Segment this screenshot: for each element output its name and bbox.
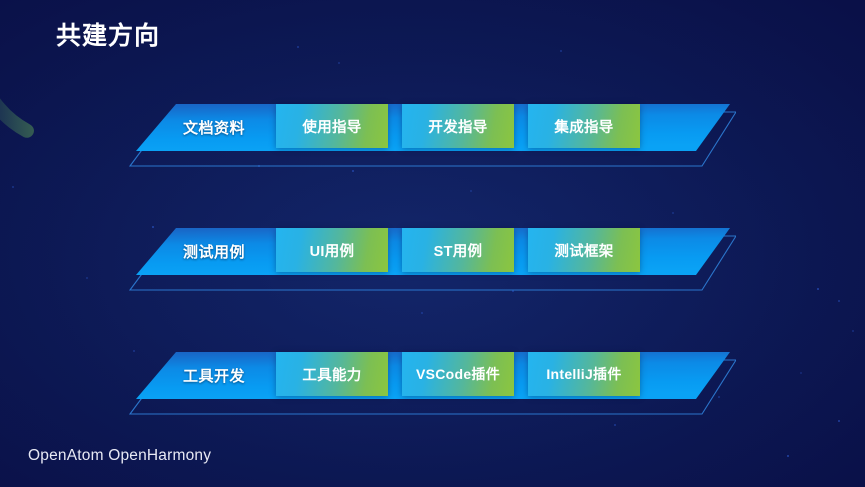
card-item[interactable]: 使用指导 (276, 104, 388, 148)
card-item[interactable]: 集成指导 (528, 104, 640, 148)
card-item[interactable]: 测试框架 (528, 228, 640, 272)
tier-row: 文档资料 使用指导 开发指导 集成指导 (0, 96, 865, 176)
tier-row: 测试用例 UI用例 ST用例 测试框架 (0, 220, 865, 300)
card-item[interactable]: UI用例 (276, 228, 388, 272)
tier-label: 测试用例 (183, 241, 269, 262)
card-item[interactable]: 开发指导 (402, 104, 514, 148)
card-item[interactable]: 工具能力 (276, 352, 388, 396)
card-group: 使用指导 开发指导 集成指导 (276, 104, 646, 148)
footer-brand: OpenAtom OpenHarmony (28, 447, 211, 465)
card-item[interactable]: IntelliJ插件 (528, 352, 640, 396)
tier-label: 工具开发 (183, 365, 269, 386)
tier-label: 文档资料 (183, 117, 269, 138)
page-title: 共建方向 (56, 21, 160, 51)
card-item[interactable]: VSCode插件 (402, 352, 514, 396)
slide-canvas: 共建方向 文档资料 使用指导 (0, 0, 865, 487)
card-group: UI用例 ST用例 测试框架 (276, 228, 646, 272)
tier-row: 工具开发 工具能力 VSCode插件 IntelliJ插件 (0, 344, 865, 424)
card-group: 工具能力 VSCode插件 IntelliJ插件 (276, 352, 646, 396)
card-item[interactable]: ST用例 (402, 228, 514, 272)
